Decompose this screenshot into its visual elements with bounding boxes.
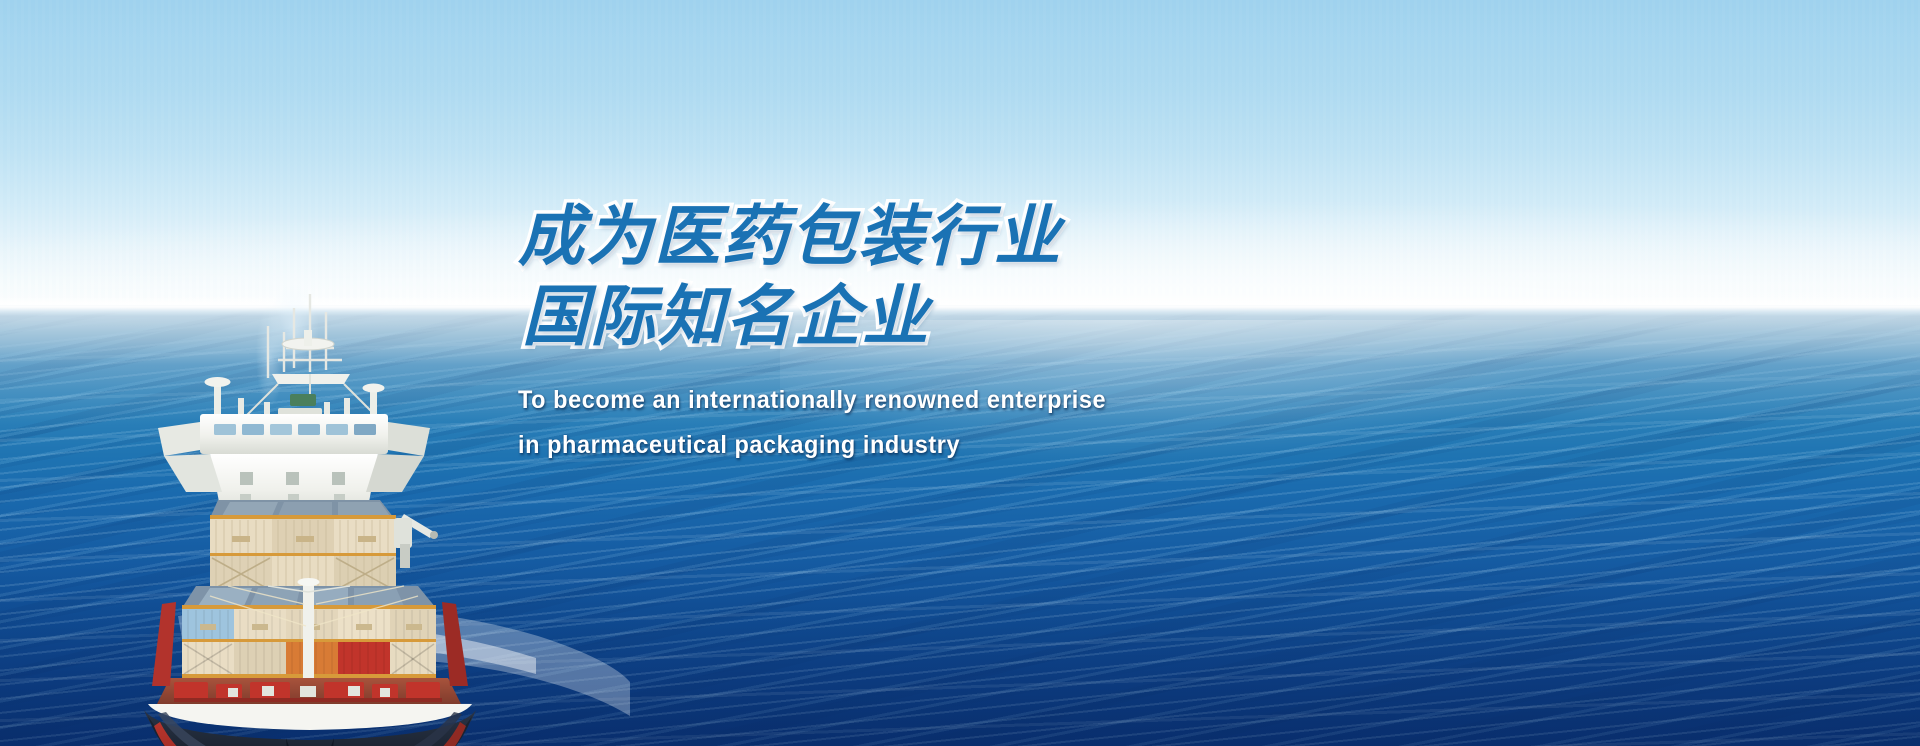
hull-white-band: [148, 704, 472, 730]
banner-subtitle: To become an internationally renowned en…: [518, 378, 1402, 468]
deck-shadow-detail: [174, 698, 442, 702]
deck-crane: [394, 514, 438, 568]
banner-copy: 成为医药包装行业 国际知名企业 To become an internation…: [518, 196, 1458, 468]
subtitle-line-2: in pharmaceutical packaging industry: [518, 423, 1402, 468]
headline-line-1: 成为医药包装行业: [518, 196, 1458, 276]
subtitle-line-1: To become an internationally renowned en…: [518, 378, 1402, 423]
container-placard: [296, 536, 314, 542]
forecastle-deck: [156, 678, 462, 706]
hero-banner: 成为医药包装行业 国际知名企业 To become an internation…: [0, 0, 1920, 746]
container-placard: [358, 536, 376, 542]
headline-line-2: 国际知名企业: [518, 276, 1458, 356]
banner-headline: 成为医药包装行业 国际知名企业: [518, 196, 1458, 356]
container-placard: [232, 536, 250, 542]
